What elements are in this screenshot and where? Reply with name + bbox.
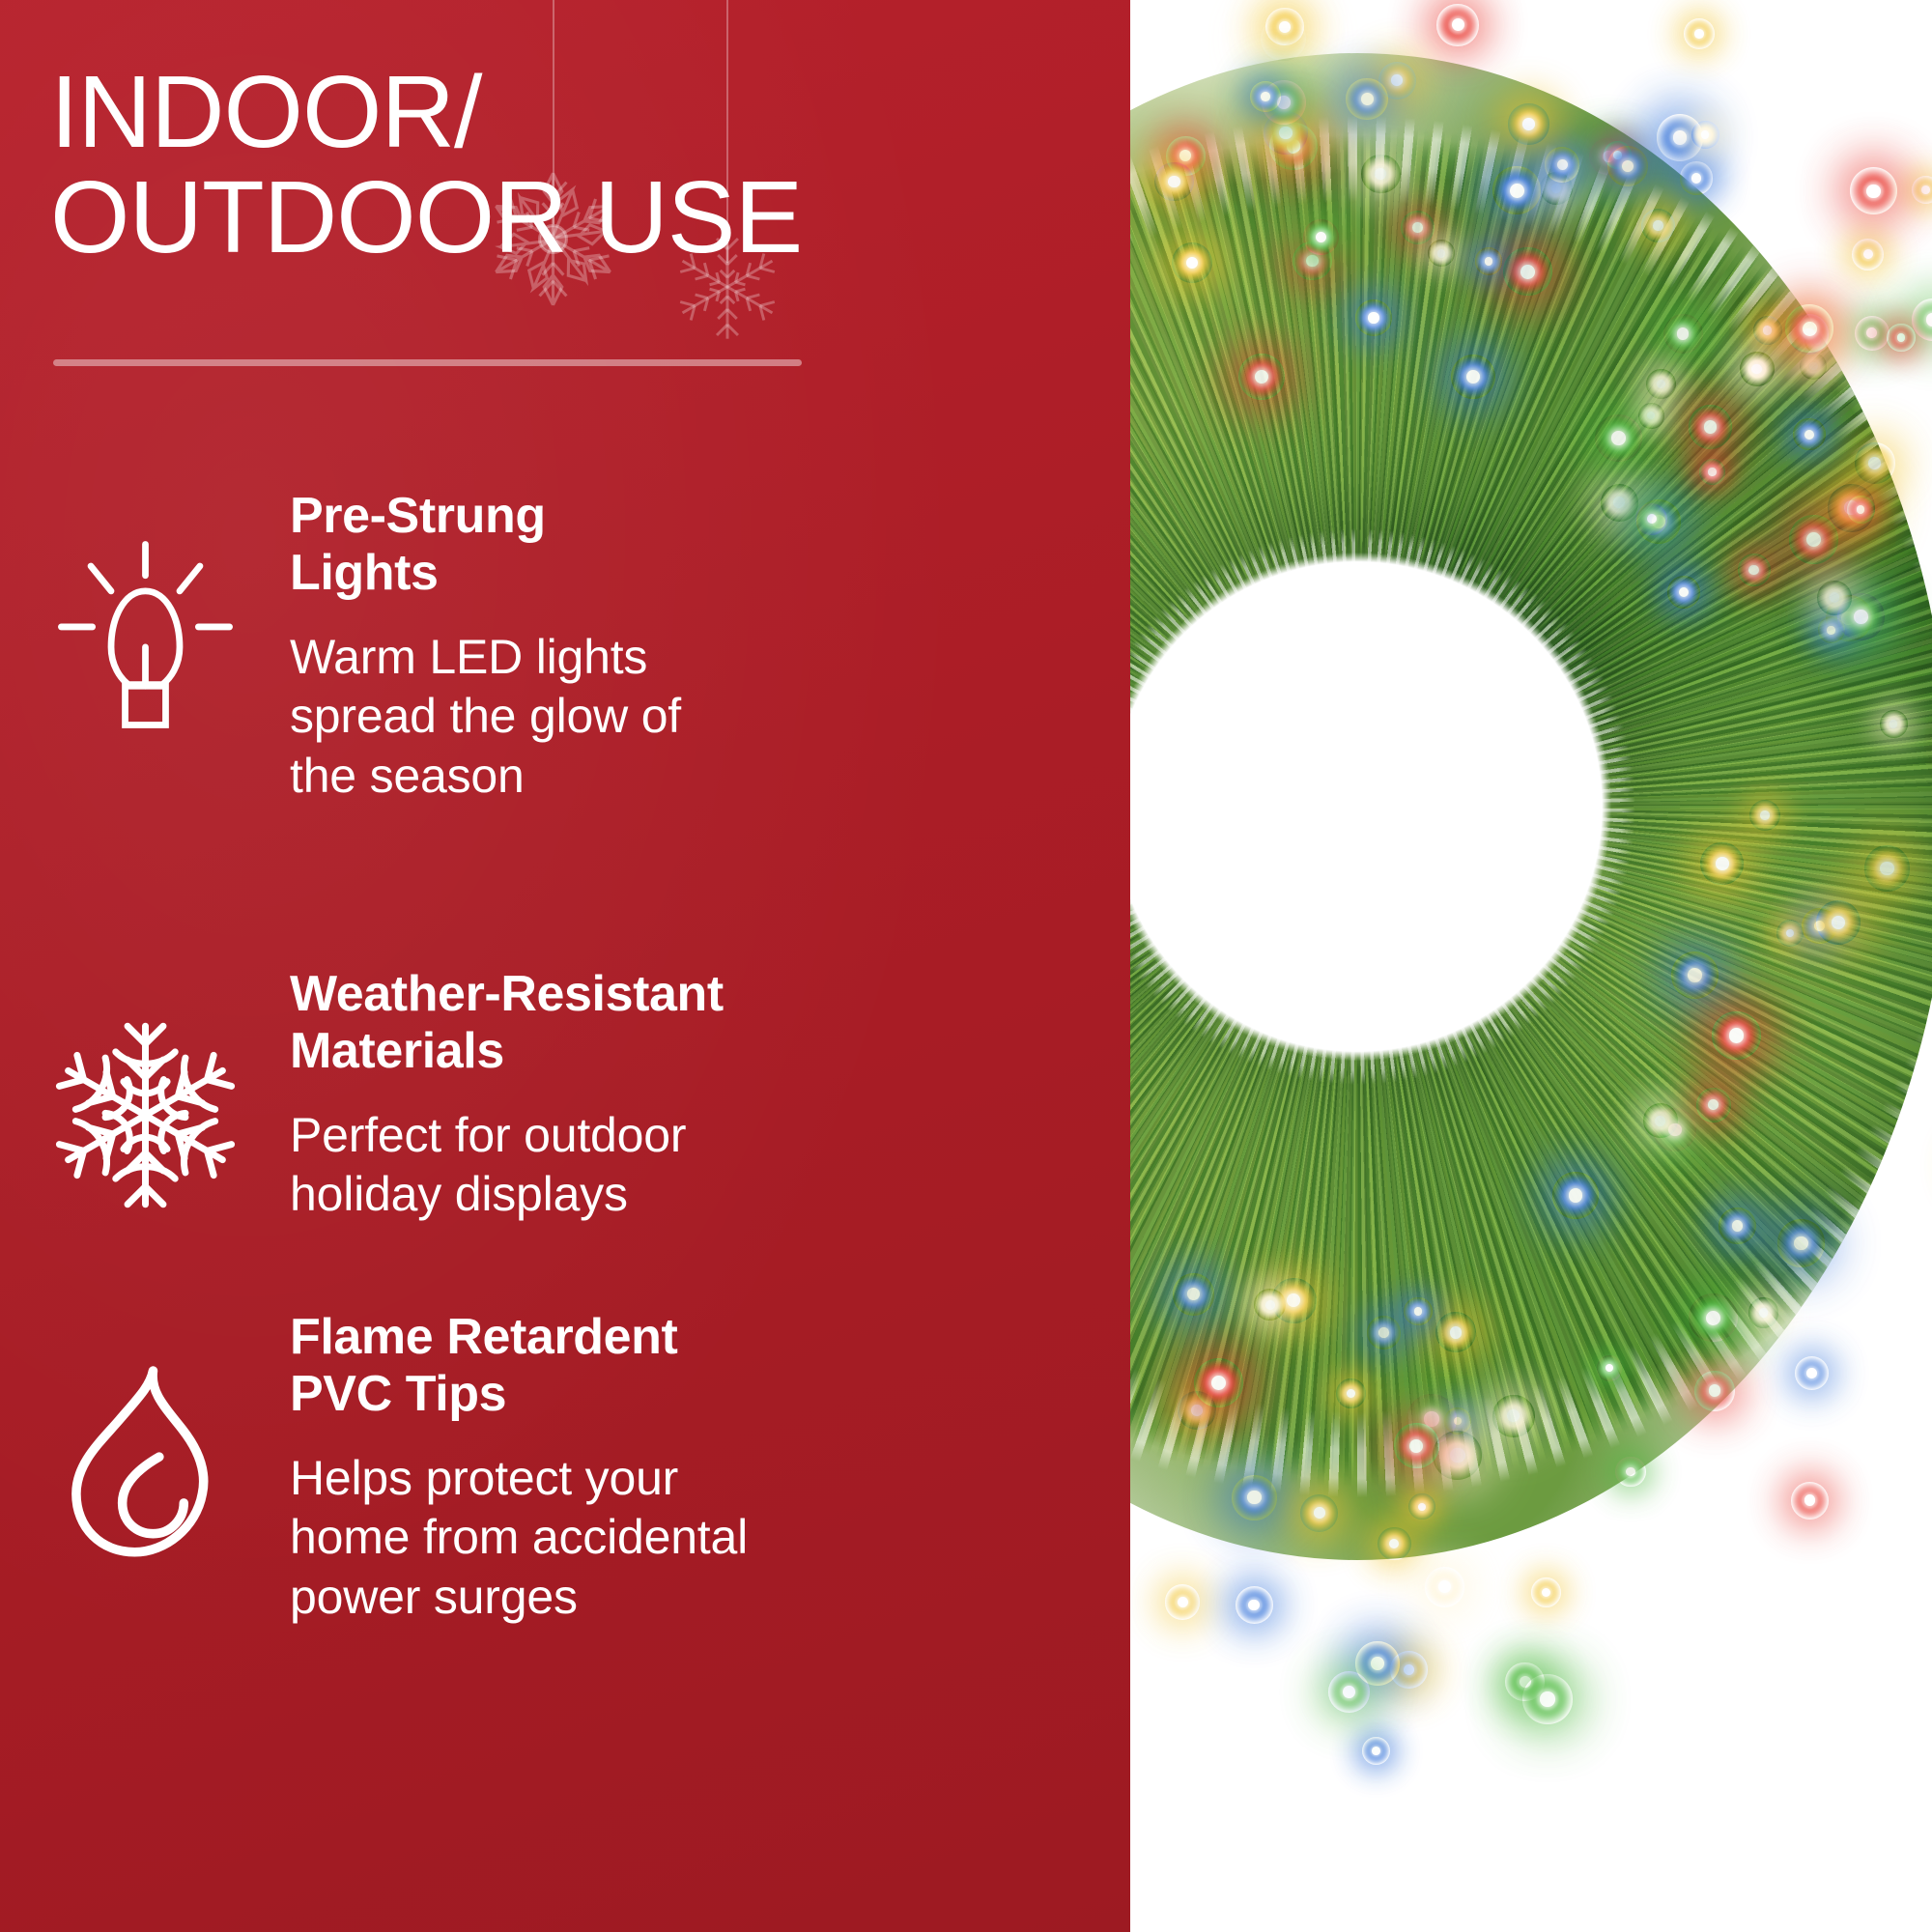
led-light: [1595, 414, 1643, 463]
led-light: [1401, 211, 1435, 244]
led-light: [1852, 239, 1884, 270]
led-light: [1194, 1358, 1243, 1407]
led-light: [1712, 1011, 1761, 1061]
led-light: [1435, 1312, 1476, 1352]
led-light: [1597, 1355, 1623, 1381]
led-light: [1777, 1219, 1825, 1266]
led-light: [1408, 1493, 1435, 1520]
feature-heading-line-2: Lights: [290, 545, 1053, 602]
led-light: [1847, 496, 1875, 524]
led-light: [1250, 81, 1281, 112]
feature-body-line-2: holiday displays: [290, 1165, 1053, 1225]
led-light: [1165, 1584, 1201, 1620]
led-light: [1691, 121, 1719, 149]
feature-item-pre-strung-lights: Pre-Strung Lights Warm LED lights spread…: [0, 488, 1130, 806]
led-light: [1684, 18, 1715, 49]
feature-body-line-1: Helps protect your: [290, 1449, 1053, 1509]
led-light: [1719, 1207, 1756, 1245]
led-light: [1425, 1567, 1465, 1607]
light-bulb-icon: [0, 488, 290, 731]
led-light: [1378, 1527, 1411, 1561]
feature-body: Warm LED lights spread the glow of the s…: [290, 628, 1053, 807]
led-light: [1607, 146, 1648, 186]
led-light: [1793, 418, 1825, 450]
feature-heading-line-2: PVC Tips: [290, 1366, 1053, 1423]
led-light: [1508, 103, 1548, 144]
led-light: [1361, 155, 1401, 194]
led-light: [1795, 1356, 1830, 1391]
feature-body: Perfect for outdoor holiday displays: [290, 1106, 1053, 1225]
led-light: [1738, 554, 1771, 586]
led-light: [1638, 403, 1663, 428]
led-light: [1328, 1671, 1370, 1713]
feature-body-line-1: Perfect for outdoor: [290, 1106, 1053, 1166]
led-light: [1265, 8, 1303, 45]
led-light: [1303, 219, 1339, 255]
title-divider: [53, 359, 802, 366]
led-light: [1154, 162, 1194, 202]
led-light: [1818, 616, 1845, 643]
feature-heading-line-1: Pre-Strung: [290, 488, 1053, 545]
led-light: [1817, 581, 1852, 615]
led-light: [1748, 1297, 1778, 1327]
feature-heading: Weather-Resistant Materials: [290, 966, 1053, 1081]
infographic-canvas: INDOOR/ OUTDOOR USE: [0, 0, 1932, 1932]
led-light: [1740, 352, 1775, 386]
product-photo-pane: [1063, 0, 1932, 1932]
led-light: [1864, 845, 1911, 892]
led-light: [1522, 1674, 1572, 1723]
led-light: [1236, 1586, 1274, 1625]
page-title: INDOOR/ OUTDOOR USE: [50, 60, 920, 270]
led-light: [1689, 1293, 1737, 1342]
led-light: [1850, 167, 1897, 214]
feature-body: Helps protect your home from accidental …: [290, 1449, 1053, 1628]
christmas-wreath-image: [1063, 53, 1932, 1560]
led-light: [1238, 354, 1285, 400]
led-light: [1367, 1316, 1401, 1350]
led-light: [1601, 484, 1638, 522]
snowflake-icon: [0, 966, 290, 1214]
feature-text-weather-resistant-materials: Weather-Resistant Materials Perfect for …: [290, 966, 1130, 1225]
led-light: [1680, 161, 1714, 195]
led-light: [1503, 247, 1551, 296]
feature-item-weather-resistant-materials: Weather-Resistant Materials Perfect for …: [0, 966, 1130, 1225]
led-light: [1912, 176, 1932, 204]
led-light: [1663, 314, 1703, 354]
led-light: [1887, 324, 1915, 352]
feature-body-line-2: home from accidental: [290, 1508, 1053, 1568]
led-light: [1394, 1423, 1439, 1468]
led-light: [1531, 1577, 1561, 1607]
led-light: [1436, 4, 1479, 46]
led-light: [1404, 1297, 1432, 1325]
led-light: [1545, 147, 1580, 183]
led-light: [1336, 1378, 1366, 1408]
led-light: [1855, 316, 1889, 351]
led-light: [1694, 1371, 1735, 1411]
led-light: [1362, 1737, 1390, 1765]
led-light: [1643, 1103, 1678, 1138]
feature-text-flame-retardent-pvc-tips: Flame Retardent PVC Tips Helps protect y…: [290, 1309, 1130, 1627]
feature-body-line-2: spread the glow of: [290, 687, 1053, 747]
led-light: [1641, 209, 1675, 242]
led-light: [1696, 1088, 1731, 1122]
feature-body-line-1: Warm LED lights: [290, 628, 1053, 688]
led-light: [1776, 920, 1804, 947]
led-light: [1667, 576, 1700, 609]
feature-heading-line-1: Flame Retardent: [290, 1309, 1053, 1366]
led-light: [1346, 78, 1387, 120]
feature-body-line-3: power surges: [290, 1568, 1053, 1628]
feature-item-flame-retardent-pvc-tips: Flame Retardent PVC Tips Helps protect y…: [0, 1309, 1130, 1627]
led-light: [1552, 1172, 1599, 1218]
led-light: [1789, 515, 1838, 564]
led-light: [1880, 710, 1908, 738]
flame-icon: [0, 1309, 290, 1567]
led-light: [1753, 316, 1782, 345]
feature-body-line-3: the season: [290, 747, 1053, 807]
led-light: [1475, 247, 1502, 274]
led-light: [1615, 1457, 1645, 1487]
feature-heading: Pre-Strung Lights: [290, 488, 1053, 603]
page-title-line-2: OUTDOOR USE: [50, 165, 920, 270]
feature-heading-line-1: Weather-Resistant: [290, 966, 1053, 1023]
led-light: [1689, 405, 1733, 449]
led-light: [1232, 1475, 1277, 1520]
feature-heading-line-2: Materials: [290, 1023, 1053, 1080]
page-title-line-1: INDOOR/: [50, 60, 920, 165]
led-light: [1173, 1273, 1215, 1316]
feature-text-pre-strung-lights: Pre-Strung Lights Warm LED lights spread…: [290, 488, 1130, 806]
led-light: [1791, 1482, 1829, 1520]
led-light: [1492, 1395, 1534, 1436]
feature-heading: Flame Retardent PVC Tips: [290, 1309, 1053, 1424]
